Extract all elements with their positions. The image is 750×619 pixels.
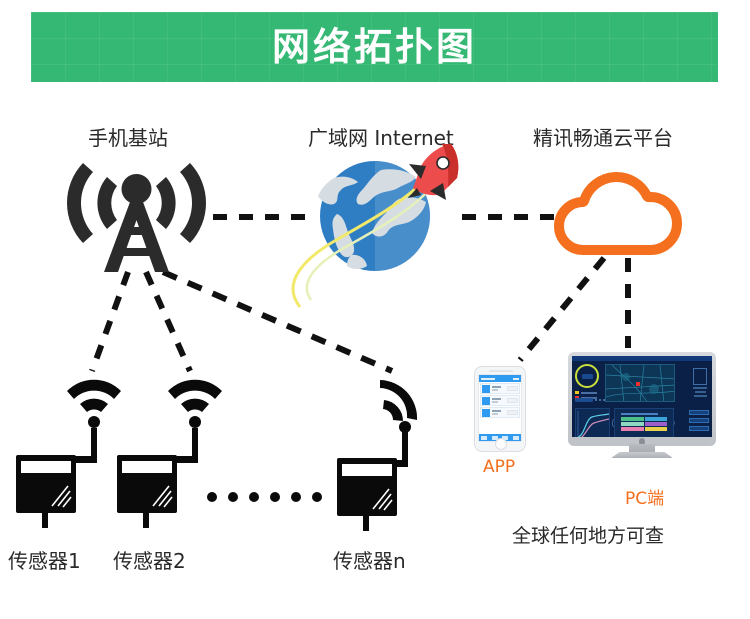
sensor-device-icon [16,380,121,528]
document-icon [693,368,707,385]
phone-speaker [489,370,513,372]
label-cloud-platform: 精讯畅通云平台 [533,122,673,151]
label-base-station: 手机基站 [88,122,168,151]
wifi-signal-icon [168,380,222,428]
label-pc: PC端 [625,484,664,509]
label-sensor-2: 传感器2 [113,545,186,574]
cloud-icon [559,177,677,250]
wifi-signal-icon [380,380,417,433]
monitor-stand-base [611,452,673,458]
page-title: 网络拓扑图 [272,28,477,66]
globe-icon [293,157,445,307]
dashboard-action-buttons [689,410,709,434]
dashboard-map-panel [605,364,675,402]
dashboard-gauge-panel [575,364,601,401]
smartphone-icon [474,366,526,452]
monitor-dashboard-screen: ⟨ ⟩ [572,356,712,437]
map-marker [636,382,640,386]
phone-app-list [479,382,521,419]
desktop-monitor-icon: ⟨ ⟩ [568,352,716,452]
page-header-banner: 网络拓扑图 [31,12,718,82]
sensor-device-icon [337,380,417,531]
sensor-device-icon [117,380,222,528]
dashboard-tile-grid [614,408,674,437]
cell-tower-icon [67,163,206,272]
dashboard-toolbar [575,398,609,402]
label-sensor-1: 传感器1 [8,545,81,574]
phone-app-header [479,375,521,382]
gauge-widget [575,364,599,388]
ellipsis-dots [207,492,322,502]
label-internet: 广域网 Internet [308,122,454,151]
label-sensor-n: 传感器n [333,545,406,574]
phone-screen [478,374,522,442]
dashboard-side-panel [691,364,709,399]
phone-home-button [495,438,507,450]
topology-diagram-canvas: 网络拓扑图 手机基站 广域网 Internet 精讯畅通云平台 [0,0,750,619]
list-item [480,407,520,418]
label-global-access-note: 全球任何地方可查 [512,521,664,548]
link-tower-to-sensor-1 [92,272,128,371]
phone-app-body [479,419,521,434]
link-tower-to-sensor-2 [146,272,190,371]
link-tower-to-sensor-n [163,272,392,371]
dashboard-line-chart [575,408,610,437]
label-app: APP [483,457,515,477]
rocket-icon [408,144,458,200]
list-item [480,383,520,394]
link-cloud-to-app [520,258,604,360]
dashboard-titlebar [572,356,712,361]
list-item [480,395,520,406]
wifi-signal-icon [67,380,121,428]
monitor-bezel: ⟨ ⟩ [568,352,716,446]
